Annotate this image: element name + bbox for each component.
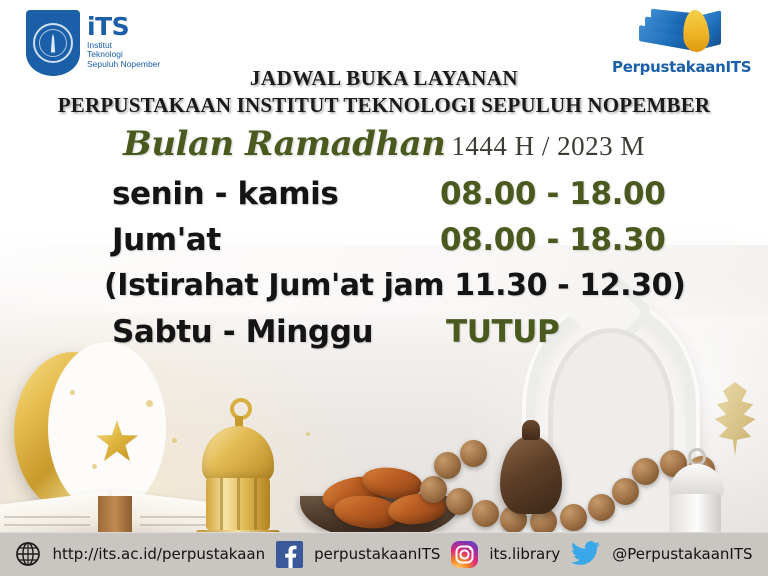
hijri-masehi-year: 1444 H / 2023 M (451, 131, 645, 161)
lantern-bar (237, 478, 240, 530)
twitter-handle-label[interactable]: @PerpustakaanITS (612, 545, 752, 563)
book-text-line (4, 524, 90, 526)
schedule-day: senin - kamis (112, 176, 338, 212)
its-gear-icon (33, 23, 73, 63)
its-wordmark-text: iTS (87, 16, 160, 39)
sparkle-dot (172, 438, 177, 443)
silver-lantern-decoration (662, 448, 732, 540)
page-subtitle: PERPUSTAKAAN INSTITUT TEKNOLOGI SEPULUH … (0, 93, 768, 118)
book-text-line (4, 516, 90, 518)
globe-icon (15, 541, 41, 567)
facebook-handle-label[interactable]: perpustakaanITS (314, 545, 440, 563)
silver-lantern-dome (670, 464, 724, 498)
schedule-status-closed: TUTUP (446, 314, 559, 350)
ramadhan-label: Bulan Ramadhan (123, 124, 445, 164)
schedule-time: 08.00 - 18.30 (440, 222, 665, 258)
schedule-day: Jum'at (112, 222, 221, 258)
facebook-icon[interactable] (276, 541, 303, 568)
friday-break-note: (Istirahat Jum'at jam 11.30 - 12.30) (104, 268, 685, 303)
page-title: JADWAL BUKA LAYANAN (0, 66, 768, 91)
instagram-icon[interactable] (451, 541, 478, 568)
sparkle-dot (70, 390, 75, 395)
schedule-row: Sabtu - Minggu TUTUP (0, 314, 768, 360)
lantern-bar (220, 478, 223, 530)
schedule-row: senin - kamis 08.00 - 18.00 (0, 176, 768, 222)
sparkle-dot (306, 432, 310, 436)
schedule-day: Sabtu - Minggu (112, 314, 373, 350)
lantern-bar (254, 478, 257, 530)
ramadhan-heading: Bulan Ramadhan1444 H / 2023 M (0, 124, 768, 164)
its-tower-icon (49, 34, 58, 53)
footer-contact-bar: http://its.ac.id/perpustakaan perpustaka… (0, 532, 768, 576)
schedule-time: 08.00 - 18.00 (440, 176, 665, 212)
instagram-handle-label[interactable]: its.library (489, 545, 560, 563)
sparkle-dot (146, 400, 153, 407)
schedule-list: senin - kamis 08.00 - 18.00 Jum'at 08.00… (0, 176, 768, 360)
silver-lantern-body (673, 494, 721, 534)
website-url-label[interactable]: http://its.ac.id/perpustakaan (52, 545, 265, 563)
ramadhan-schedule-poster: iTS Institut Teknologi Sepuluh Nopember … (0, 0, 768, 576)
schedule-row-break-note: (Istirahat Jum'at jam 11.30 - 12.30) (0, 268, 768, 314)
beads-tassel (500, 436, 562, 514)
gold-lantern-decoration (186, 398, 290, 548)
perpustakaan-books-flame-icon (635, 8, 727, 56)
sparkle-dot (92, 464, 97, 469)
lantern-dome (202, 426, 274, 482)
poster-headings: JADWAL BUKA LAYANAN PERPUSTAKAAN INSTITU… (0, 66, 768, 164)
twitter-icon[interactable] (571, 541, 601, 567)
schedule-row: Jum'at 08.00 - 18.30 (0, 222, 768, 268)
its-tagline: Institut Teknologi Sepuluh Nopember (87, 41, 160, 70)
its-wordmark: iTS Institut Teknologi Sepuluh Nopember (87, 10, 160, 69)
